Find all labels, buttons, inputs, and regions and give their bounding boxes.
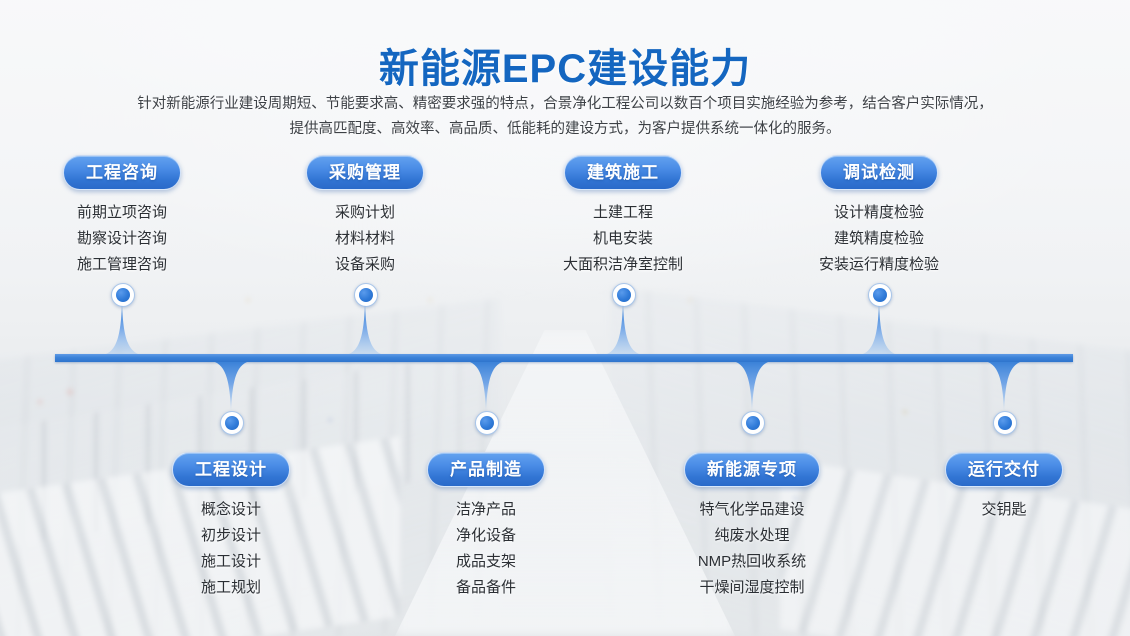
list-item: 土建工程 (563, 200, 683, 226)
list-item: 初步设计 (201, 523, 261, 549)
timeline-connector-up-3 (607, 305, 639, 354)
stage-pill-product-manufacturing[interactable]: 产品制造 (427, 452, 545, 487)
timeline-dot-icon[interactable] (993, 411, 1017, 435)
timeline-dot-icon[interactable] (612, 283, 636, 307)
subtitle-line-1: 针对新能源行业建设周期短、节能要求高、精密要求强的特点，合景净化工程公司以数百个… (85, 92, 1045, 117)
timeline-connector-up-1 (106, 305, 138, 354)
timeline-connector-down-1 (215, 362, 247, 411)
timeline-connector-down-3 (736, 362, 768, 411)
list-item: 概念设计 (201, 497, 261, 523)
timeline-connector-down-2 (470, 362, 502, 411)
list-item: 施工设计 (201, 549, 261, 575)
stage-items-engineering-consulting: 前期立项咨询 勘察设计咨询 施工管理咨询 (77, 200, 167, 278)
timeline-dot-icon[interactable] (111, 283, 135, 307)
list-item: 大面积洁净室控制 (563, 252, 683, 278)
stage-pill-commissioning-testing[interactable]: 调试检测 (820, 155, 938, 190)
stage-items-building-construction: 土建工程 机电安装 大面积洁净室控制 (563, 200, 683, 278)
list-item: 备品备件 (456, 575, 516, 601)
stage-pill-operation-delivery[interactable]: 运行交付 (945, 452, 1063, 487)
list-item: 成品支架 (456, 549, 516, 575)
stage-pill-engineering-consulting[interactable]: 工程咨询 (63, 155, 181, 190)
infographic-stage: 新能源EPC建设能力 针对新能源行业建设周期短、节能要求高、精密要求强的特点，合… (0, 0, 1130, 636)
stage-items-commissioning-testing: 设计精度检验 建筑精度检验 安装运行精度检验 (819, 200, 939, 278)
subtitle-line-2: 提供高匹配度、高效率、高品质、低能耗的建设方式，为客户提供系统一体化的服务。 (85, 117, 1045, 142)
list-item: 纯废水处理 (698, 523, 806, 549)
page-subtitle: 针对新能源行业建设周期短、节能要求高、精密要求强的特点，合景净化工程公司以数百个… (85, 92, 1045, 142)
list-item: 施工管理咨询 (77, 252, 167, 278)
list-item: 干燥间湿度控制 (698, 575, 806, 601)
list-item: 勘察设计咨询 (77, 226, 167, 252)
timeline-dot-icon[interactable] (354, 283, 378, 307)
stage-items-product-manufacturing: 洁净产品 净化设备 成品支架 备品备件 (456, 497, 516, 601)
list-item: 交钥匙 (981, 497, 1026, 523)
stage-items-new-energy-special: 特气化学品建设 纯废水处理 NMP热回收系统 干燥间湿度控制 (698, 497, 806, 601)
list-item: 机电安装 (563, 226, 683, 252)
timeline-dot-icon[interactable] (475, 411, 499, 435)
list-item: 设备采购 (335, 252, 395, 278)
list-item: 采购计划 (335, 200, 395, 226)
list-item: 施工规划 (201, 575, 261, 601)
stage-items-engineering-design: 概念设计 初步设计 施工设计 施工规划 (201, 497, 261, 601)
list-item: 前期立项咨询 (77, 200, 167, 226)
stage-pill-procurement-management[interactable]: 采购管理 (306, 155, 424, 190)
list-item: 净化设备 (456, 523, 516, 549)
timeline-connector-up-4 (863, 305, 895, 354)
stage-items-operation-delivery: 交钥匙 (981, 497, 1026, 523)
stage-pill-new-energy-special[interactable]: 新能源专项 (684, 452, 820, 487)
list-item: 特气化学品建设 (698, 497, 806, 523)
stage-pill-engineering-design[interactable]: 工程设计 (172, 452, 290, 487)
list-item: NMP热回收系统 (698, 549, 806, 575)
timeline-dot-icon[interactable] (741, 411, 765, 435)
stage-items-procurement-management: 采购计划 材料材料 设备采购 (335, 200, 395, 278)
timeline-connector-down-4 (988, 362, 1020, 411)
list-item: 洁净产品 (456, 497, 516, 523)
timeline-bar (55, 354, 1073, 362)
list-item: 材料材料 (335, 226, 395, 252)
list-item: 安装运行精度检验 (819, 252, 939, 278)
stage-pill-building-construction[interactable]: 建筑施工 (564, 155, 682, 190)
timeline-dot-icon[interactable] (220, 411, 244, 435)
page-title: 新能源EPC建设能力 (0, 36, 1130, 94)
timeline-connector-up-2 (349, 305, 381, 354)
timeline-dot-icon[interactable] (868, 283, 892, 307)
list-item: 设计精度检验 (819, 200, 939, 226)
list-item: 建筑精度检验 (819, 226, 939, 252)
